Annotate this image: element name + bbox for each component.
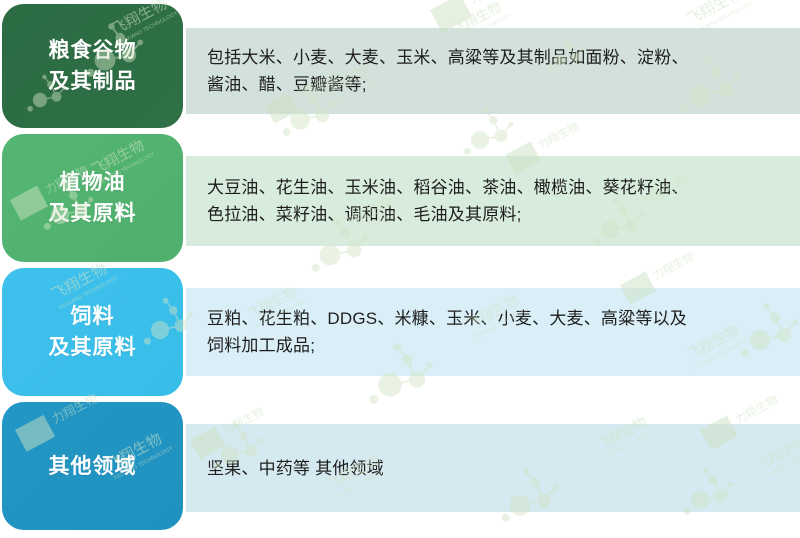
diagram-row: 豆粕、花生粕、DDGS、米糠、玉米、小麦、大麦、高粱等以及 饲料加工成品; 饲料…: [0, 268, 800, 402]
row-description-panel: 包括大米、小麦、大麦、玉米、高粱等及其制品如面粉、淀粉、 酱油、醋、豆瓣酱等;: [186, 28, 800, 114]
diagram-row: 包括大米、小麦、大麦、玉米、高粱等及其制品如面粉、淀粉、 酱油、醋、豆瓣酱等; …: [0, 0, 800, 134]
row-description-text: 包括大米、小麦、大麦、玉米、高粱等及其制品如面粉、淀粉、 酱油、醋、豆瓣酱等;: [207, 44, 786, 98]
row-category-pill[interactable]: 其他领域: [2, 402, 183, 530]
row-category-label: 植物油 及其原料: [49, 167, 137, 229]
row-category-label: 其他领域: [49, 451, 137, 482]
application-fields-diagram: 包括大米、小麦、大麦、玉米、高粱等及其制品如面粉、淀粉、 酱油、醋、豆瓣酱等; …: [0, 0, 800, 538]
row-description-text: 大豆油、花生油、玉米油、稻谷油、茶油、橄榄油、葵花籽油、 色拉油、菜籽油、调和油…: [207, 174, 786, 228]
row-category-pill[interactable]: 粮食谷物 及其制品: [2, 4, 183, 128]
diagram-row: 坚果、中药等 其他领域 其他领域: [0, 402, 800, 538]
row-category-label: 粮食谷物 及其制品: [49, 35, 137, 97]
row-description-panel: 大豆油、花生油、玉米油、稻谷油、茶油、橄榄油、葵花籽油、 色拉油、菜籽油、调和油…: [186, 156, 800, 246]
row-category-pill[interactable]: 饲料 及其原料: [2, 268, 183, 396]
row-description-panel: 豆粕、花生粕、DDGS、米糠、玉米、小麦、大麦、高粱等以及 饲料加工成品;: [186, 288, 800, 376]
row-category-label: 饲料 及其原料: [49, 301, 137, 363]
row-description-text: 豆粕、花生粕、DDGS、米糠、玉米、小麦、大麦、高粱等以及 饲料加工成品;: [207, 305, 786, 359]
row-category-pill[interactable]: 植物油 及其原料: [2, 134, 183, 262]
row-description-text: 坚果、中药等 其他领域: [207, 455, 786, 482]
row-description-panel: 坚果、中药等 其他领域: [186, 424, 800, 512]
diagram-row: 大豆油、花生油、玉米油、稻谷油、茶油、橄榄油、葵花籽油、 色拉油、菜籽油、调和油…: [0, 134, 800, 268]
